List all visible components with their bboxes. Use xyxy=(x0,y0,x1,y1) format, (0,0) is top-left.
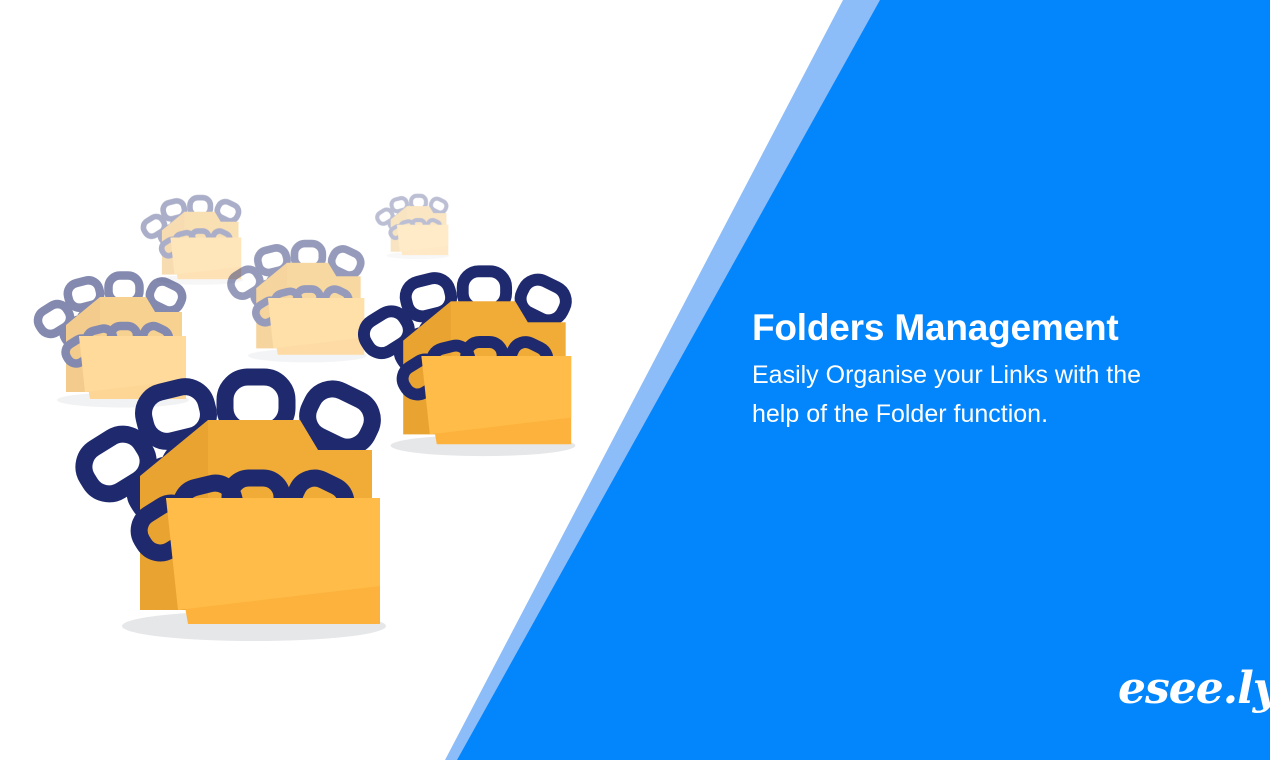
promo-text-block: Folders Management Easily Organise your … xyxy=(752,306,1222,434)
folder-small-faded-top-left xyxy=(141,198,243,285)
promo-banner: Folders Management Easily Organise your … xyxy=(0,0,1270,760)
folder-right xyxy=(358,271,575,456)
folder-medium-faded-center xyxy=(227,244,367,363)
page-title: Folders Management xyxy=(752,306,1222,350)
brand-logo[interactable]: esee.ly xyxy=(1118,660,1248,722)
brand-logo-text: esee.ly xyxy=(1118,663,1270,714)
folder-main-front xyxy=(76,377,386,641)
folder-small-faded-top-right xyxy=(375,196,449,259)
folders-illustration xyxy=(0,0,700,760)
page-subtitle: Easily Organise your Links with the help… xyxy=(752,356,1152,434)
